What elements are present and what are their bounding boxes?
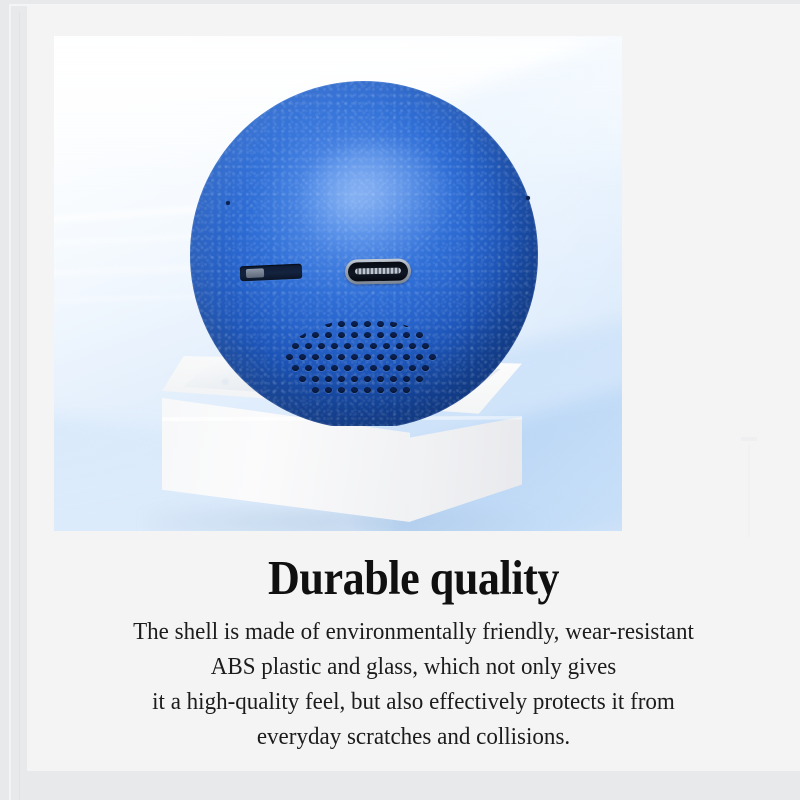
grille-hole-row — [282, 376, 446, 387]
grille-hole — [364, 321, 371, 327]
grille-hole-row — [282, 343, 446, 354]
grille-hole — [364, 354, 371, 360]
grille-hole — [416, 354, 423, 360]
grille-hole — [377, 321, 384, 327]
grille-hole — [416, 332, 423, 338]
grille-hole — [338, 332, 345, 338]
description-line: it a high-quality feel, but also effecti… — [50, 684, 777, 719]
grille-hole — [331, 365, 338, 371]
grille-hole — [286, 354, 293, 360]
grille-hole — [351, 387, 358, 393]
power-slider-switch-icon[interactable] — [240, 264, 303, 282]
card-hairline-artifact — [748, 445, 750, 537]
page-title: Durable quality — [66, 550, 762, 606]
grille-hole — [338, 321, 345, 327]
grille-hole-row — [282, 387, 446, 398]
usb-c-port-cavity — [348, 261, 408, 281]
grille-hole — [429, 354, 436, 360]
grille-hole — [390, 354, 397, 360]
grille-hole — [416, 376, 423, 382]
grille-hole — [403, 376, 410, 382]
grille-hole — [370, 365, 377, 371]
grille-hole — [325, 387, 332, 393]
grille-hole — [351, 376, 358, 382]
grille-hole — [403, 321, 410, 327]
grille-hole — [299, 354, 306, 360]
grille-hole — [370, 343, 377, 349]
grille-hole — [357, 343, 364, 349]
grille-hole — [422, 343, 429, 349]
grille-hole — [312, 387, 319, 393]
speaker-grille-icon — [282, 319, 446, 403]
grille-hole — [409, 365, 416, 371]
microphone-pinhole-right-icon — [526, 196, 530, 200]
grille-hole — [396, 343, 403, 349]
grille-hole — [292, 343, 299, 349]
grille-hole — [312, 321, 319, 327]
content-card: Durable quality The shell is made of env… — [27, 5, 800, 771]
grille-hole — [422, 365, 429, 371]
grille-hole — [338, 387, 345, 393]
grille-hole — [344, 365, 351, 371]
grille-hole — [377, 354, 384, 360]
grille-hole — [364, 332, 371, 338]
grille-hole — [357, 365, 364, 371]
grille-hole — [396, 365, 403, 371]
grille-hole — [390, 332, 397, 338]
description-line: everyday scratches and collisions. — [50, 719, 777, 754]
grille-hole — [299, 332, 306, 338]
grille-hole — [325, 376, 332, 382]
grille-hole — [403, 354, 410, 360]
grille-hole — [390, 376, 397, 382]
description-paragraph: The shell is made of environmentally fri… — [27, 614, 800, 754]
grille-hole — [312, 376, 319, 382]
grille-hole — [338, 354, 345, 360]
grille-hole — [383, 343, 390, 349]
image-canvas: Durable quality The shell is made of env… — [0, 0, 800, 800]
grille-hole — [325, 332, 332, 338]
grille-hole — [292, 365, 299, 371]
grille-hole — [312, 354, 319, 360]
grille-hole — [383, 365, 390, 371]
canvas-left-edge-line — [9, 4, 11, 800]
grille-hole — [377, 387, 384, 393]
grille-hole — [364, 387, 371, 393]
canvas-left-inner-line — [19, 12, 20, 800]
grille-hole — [338, 376, 345, 382]
grille-hole — [325, 354, 332, 360]
grille-hole — [305, 343, 312, 349]
grille-hole — [344, 343, 351, 349]
grille-hole — [364, 376, 371, 382]
grille-hole-row — [282, 321, 446, 332]
usb-c-contact-tongue — [355, 268, 401, 275]
grille-hole — [403, 332, 410, 338]
grille-hole — [299, 376, 306, 382]
text-block: Durable quality The shell is made of env… — [27, 550, 800, 754]
grille-hole — [312, 332, 319, 338]
grille-hole-row — [282, 354, 446, 365]
grille-hole — [318, 343, 325, 349]
grille-hole — [409, 343, 416, 349]
grille-hole — [325, 321, 332, 327]
grille-hole — [351, 321, 358, 327]
description-line: ABS plastic and glass, which not only gi… — [50, 649, 777, 684]
grille-hole — [390, 387, 397, 393]
microphone-pinhole-left-icon — [226, 201, 230, 205]
slider-knob[interactable] — [246, 268, 264, 278]
grille-hole — [390, 321, 397, 327]
grille-hole — [403, 387, 410, 393]
description-line: The shell is made of environmentally fri… — [50, 614, 777, 649]
spherical-speaker — [190, 81, 538, 426]
usb-c-port-icon — [345, 258, 411, 284]
grille-hole-row — [282, 365, 446, 376]
grille-hole — [331, 343, 338, 349]
grille-hole — [305, 365, 312, 371]
product-photo — [54, 36, 622, 531]
grille-hole — [377, 332, 384, 338]
grille-hole — [351, 354, 358, 360]
card-smudge-artifact — [741, 437, 757, 441]
grille-hole — [318, 365, 325, 371]
grille-hole-row — [282, 332, 446, 343]
grille-hole — [351, 332, 358, 338]
grille-hole — [377, 376, 384, 382]
